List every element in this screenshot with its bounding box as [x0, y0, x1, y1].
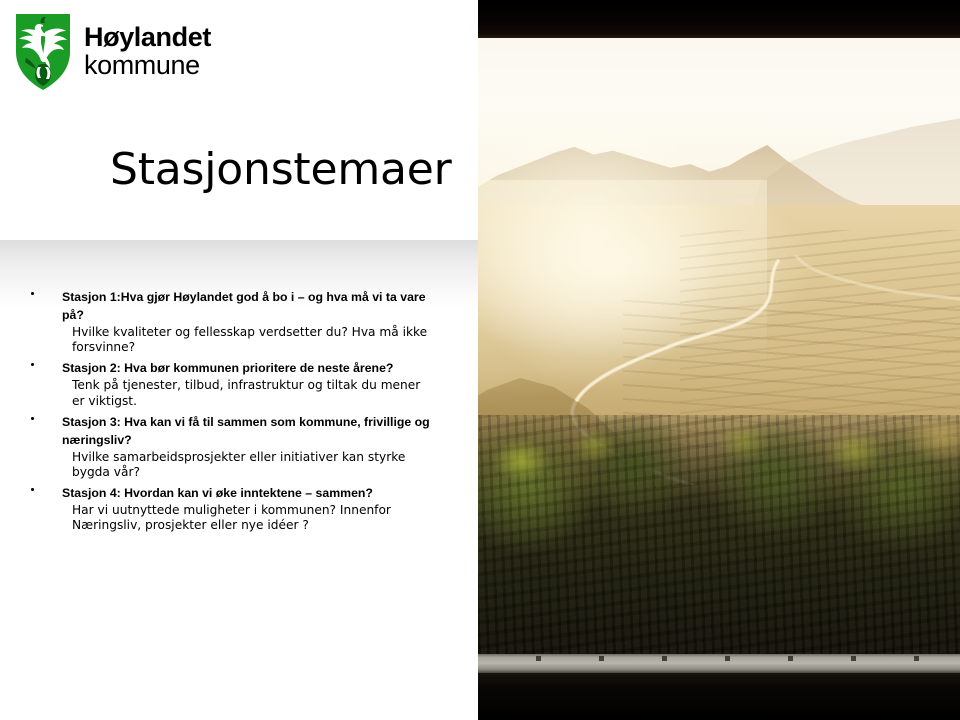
presentation-slide: Høylandet kommune Stasjonstemaer Stasjon…	[0, 0, 960, 720]
station-block-2: Stasjon 2: Hva bør kommunen prioritere d…	[0, 359, 440, 408]
background-photo	[478, 0, 960, 720]
photo-rail-bolts	[478, 656, 960, 661]
bullet-dot-icon	[31, 417, 34, 420]
photo-canopy-highlights	[478, 420, 960, 540]
bullet-row: Stasjon 4: Hvordan kan vi øke inntektene…	[0, 484, 440, 502]
logo-line-1: Høylandet	[84, 24, 211, 52]
station-detail: Har vi uutnyttede muligheter i kommunen?…	[0, 503, 440, 533]
logo-line-2: kommune	[84, 52, 211, 80]
municipality-logo: Høylandet kommune	[14, 12, 211, 92]
station-detail: Hvilke kvaliteter og fellesskap verdsett…	[0, 325, 440, 355]
station-heading: Stasjon 3: Hva kan vi få til sammen som …	[62, 415, 430, 447]
bullet-dot-icon	[31, 363, 34, 366]
logo-wordmark: Høylandet kommune	[84, 24, 211, 79]
bullet-row: Stasjon 2: Hva bør kommunen prioritere d…	[0, 359, 440, 377]
photo-inner	[478, 0, 960, 720]
station-detail: Hvilke samarbeidsprosjekter eller initia…	[0, 450, 440, 480]
station-block-4: Stasjon 4: Hvordan kan vi øke inntektene…	[0, 484, 440, 533]
content-panel: Høylandet kommune Stasjonstemaer Stasjon…	[0, 0, 478, 720]
photo-bottom-letterbox	[478, 673, 960, 720]
station-heading: Stasjon 2: Hva bør kommunen prioritere d…	[62, 361, 393, 375]
photo-top-letterbox	[478, 0, 960, 38]
swan-shield-icon	[14, 12, 72, 92]
station-block-1: Stasjon 1:Hva gjør Høylandet god å bo i …	[0, 288, 440, 355]
station-heading: Stasjon 1:Hva gjør Høylandet god å bo i …	[62, 290, 426, 322]
bullet-dot-icon	[31, 292, 34, 295]
bullet-row: Stasjon 1:Hva gjør Høylandet god å bo i …	[0, 288, 440, 324]
bullet-dot-icon	[31, 488, 34, 491]
station-heading: Stasjon 4: Hvordan kan vi øke inntektene…	[62, 486, 373, 500]
bullet-row: Stasjon 3: Hva kan vi få til sammen som …	[0, 413, 440, 449]
station-block-3: Stasjon 3: Hva kan vi få til sammen som …	[0, 413, 440, 480]
station-topics-list: Stasjon 1:Hva gjør Høylandet god å bo i …	[0, 288, 440, 538]
slide-title: Stasjonstemaer	[110, 144, 452, 195]
station-detail: Tenk på tjenester, tilbud, infrastruktur…	[0, 378, 440, 408]
